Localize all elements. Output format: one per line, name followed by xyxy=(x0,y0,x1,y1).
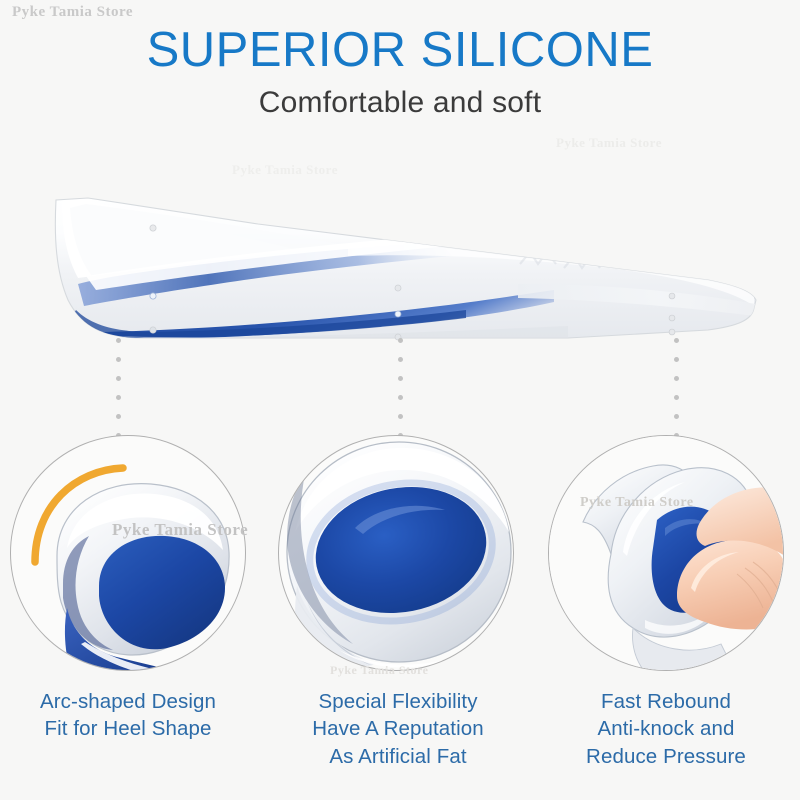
product-infographic: Pyke Tamia Store Pyke Tamia Store Pyke T… xyxy=(0,0,800,800)
feature-caption-fast-rebound: Fast Rebound Anti-knock and Reduce Press… xyxy=(536,688,796,770)
caption-line: Have A Reputation xyxy=(268,715,528,742)
feature-circle-arc-shaped-design xyxy=(10,435,246,671)
feature-circle-special-flexibility xyxy=(278,435,514,671)
feature-circle-fast-rebound xyxy=(548,435,784,671)
hand-squeezing-gel-pad-icon xyxy=(549,436,784,671)
dotted-connector-center xyxy=(398,338,403,434)
heel-cup-arc-closeup-icon xyxy=(11,436,246,671)
feature-caption-special-flexibility: Special Flexibility Have A Reputation As… xyxy=(268,688,528,770)
caption-line: Special Flexibility xyxy=(268,688,528,715)
blue-gel-pad-closeup-icon xyxy=(279,436,514,671)
dotted-connector-left xyxy=(116,338,121,434)
caption-line: Arc-shaped Design xyxy=(0,688,258,715)
watermark-top-right: Pyke Tamia Store xyxy=(556,135,662,151)
hero-product-image xyxy=(48,180,760,348)
caption-line: Reduce Pressure xyxy=(536,743,796,770)
caption-line: Fast Rebound xyxy=(536,688,796,715)
caption-line: Anti-knock and xyxy=(536,715,796,742)
caption-line: As Artificial Fat xyxy=(268,743,528,770)
feature-caption-arc-shaped-design: Arc-shaped Design Fit for Heel Shape xyxy=(0,688,258,743)
silicone-heel-wedge-icon xyxy=(48,180,760,348)
page-title: SUPERIOR SILICONE xyxy=(0,26,800,75)
watermark-mid-left: Pyke Tamia Store xyxy=(232,162,338,178)
dotted-connector-right xyxy=(674,338,679,434)
caption-line: Fit for Heel Shape xyxy=(0,715,258,742)
watermark-top-left: Pyke Tamia Store xyxy=(12,4,133,21)
page-subtitle: Comfortable and soft xyxy=(0,86,800,119)
